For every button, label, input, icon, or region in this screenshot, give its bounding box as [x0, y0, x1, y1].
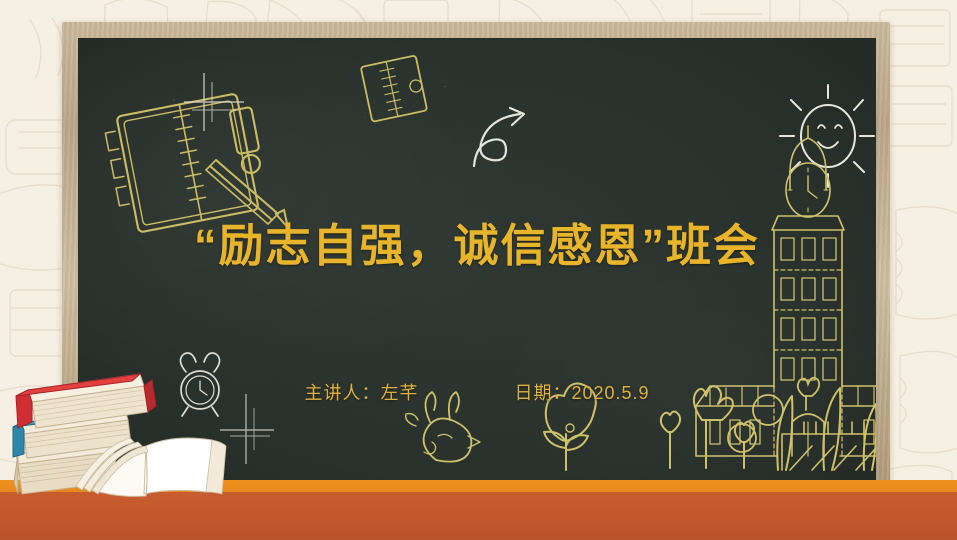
pen-drawing [206, 160, 288, 228]
small-notebook-drawing [361, 55, 427, 121]
sparkle-cross-drawing [184, 73, 244, 131]
curly-arrow-drawing [474, 108, 524, 166]
slide-canvas: “励志自强，诚信感恩”班会 主讲人：左芊 日期：2020.5.9 [0, 0, 957, 540]
title-block: “励志自强，诚信感恩”班会 [78, 221, 876, 271]
school-clock-tower-drawing [696, 126, 876, 456]
date-label: 日期：2020.5.9 [514, 379, 649, 405]
fence-drawing [782, 422, 876, 470]
presenter-label: 主讲人：左芊 [304, 379, 418, 405]
book-red [16, 374, 156, 428]
stacked-books [0, 372, 246, 502]
notebook-with-pen-drawing [103, 91, 271, 235]
smiling-sun-drawing [780, 85, 874, 187]
page-title: “励志自强，诚信感恩”班会 [78, 221, 876, 271]
